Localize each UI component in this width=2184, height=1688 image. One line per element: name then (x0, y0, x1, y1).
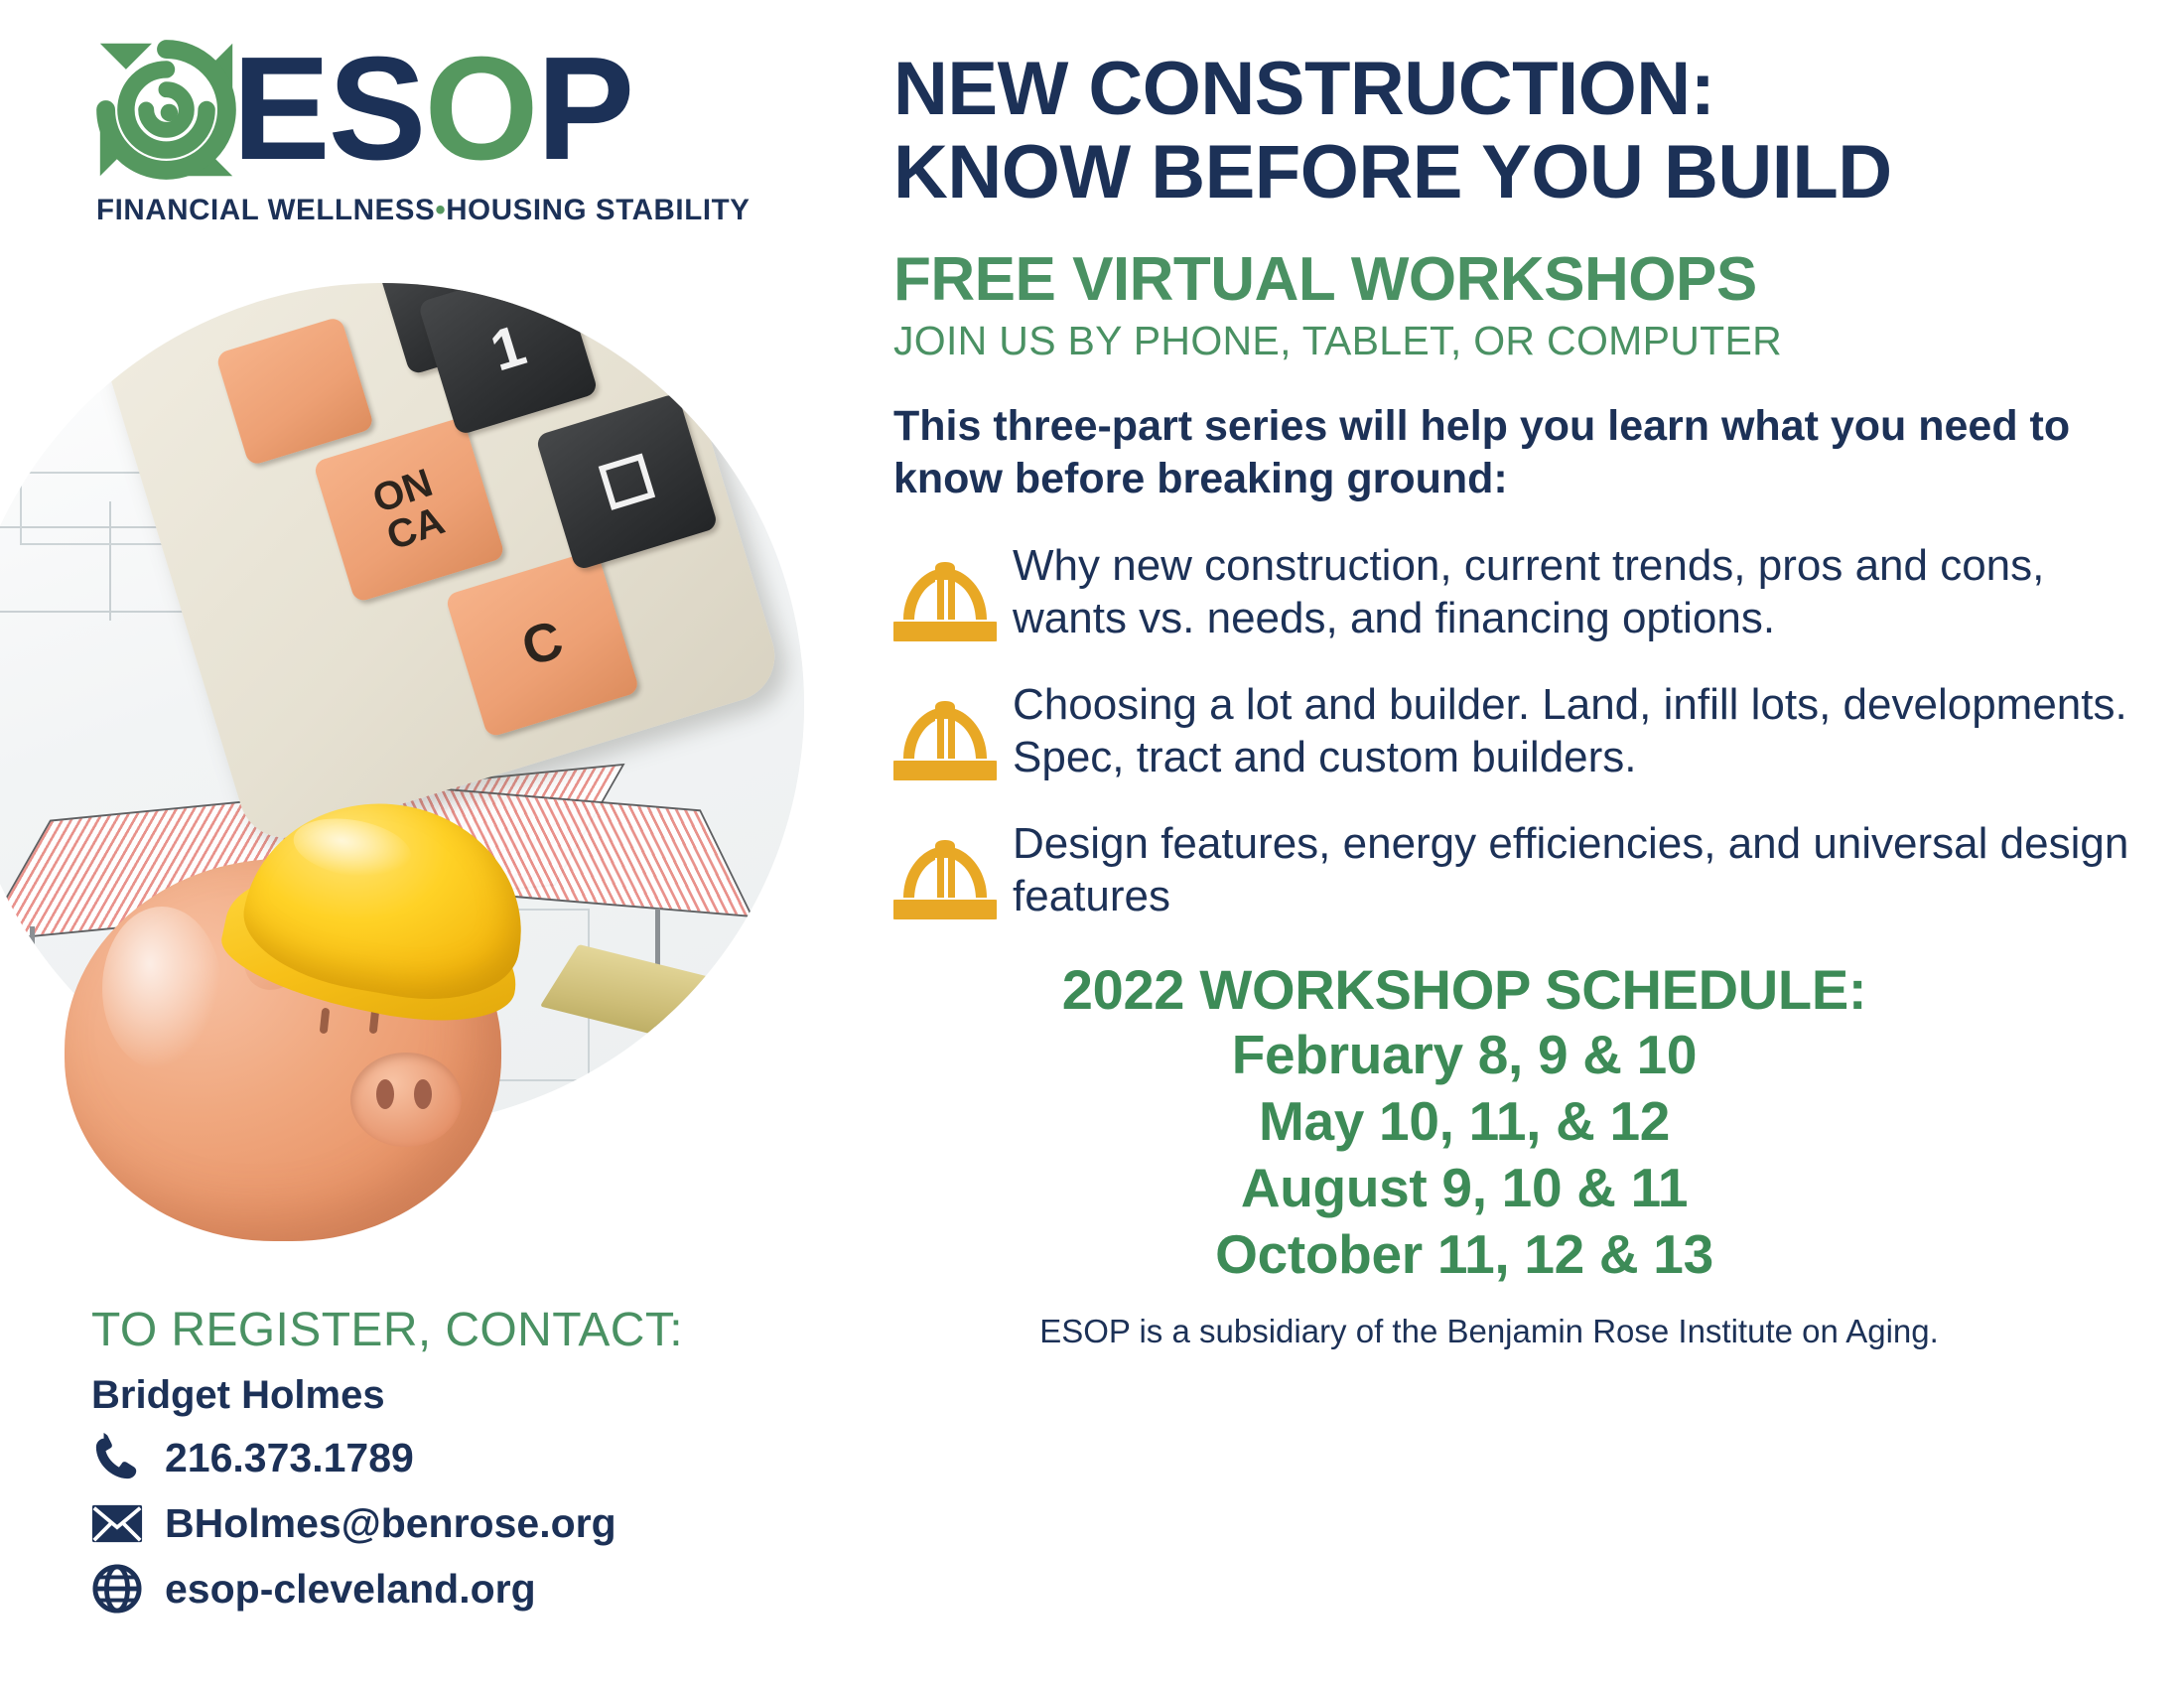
schedule-date: May 10, 11, & 12 (893, 1088, 2035, 1155)
contact-row-email[interactable]: BHolmes@benrose.org (91, 1497, 806, 1549)
piggy-nostril (414, 1079, 432, 1109)
list-item-label: Why new construction, current trends, pr… (1013, 540, 2164, 645)
calculator-key (215, 316, 375, 466)
logo-tagline: FINANCIAL WELLNESS•HOUSING STABILITY (96, 194, 730, 227)
list-item: Why new construction, current trends, pr… (893, 540, 2164, 645)
page-title: NEW CONSTRUCTION: KNOW BEFORE YOU BUILD (893, 48, 2164, 213)
schedule-date: October 11, 12 & 13 (893, 1221, 2035, 1288)
contact-row-phone[interactable]: 216.373.1789 (91, 1432, 806, 1483)
tagline-part2: HOUSING STABILITY (446, 194, 750, 226)
contact-website: esop-cleveland.org (165, 1566, 536, 1613)
piggy-snout (350, 1053, 462, 1147)
contact-block: TO REGISTER, CONTACT: Bridget Holmes 216… (91, 1303, 806, 1615)
phone-icon (91, 1432, 143, 1483)
logo-wordmark: ESOP (232, 36, 632, 183)
contact-title: TO REGISTER, CONTACT: (91, 1303, 806, 1357)
tagline-dot: • (435, 194, 446, 226)
bullet-list: Why new construction, current trends, pr… (893, 540, 2164, 923)
hard-hat-icon (893, 554, 997, 645)
main-content-column: NEW CONSTRUCTION: KNOW BEFORE YOU BUILD … (893, 48, 2164, 1350)
list-item-label: Choosing a lot and builder. Land, infill… (1013, 679, 2164, 784)
piggy-highlight (102, 907, 221, 1070)
contact-row-website[interactable]: esop-cleveland.org (91, 1563, 806, 1615)
piggy-leg (96, 1192, 152, 1276)
calculator-key-c: C (445, 549, 640, 738)
list-item: Choosing a lot and builder. Land, infill… (893, 679, 2164, 784)
headline-line-1: NEW CONSTRUCTION: (893, 48, 2164, 131)
schedule-date: February 8, 9 & 10 (893, 1022, 2035, 1088)
intro-paragraph: This three-part series will help you lea… (893, 400, 2075, 504)
blueprint-column (30, 926, 35, 1075)
piggy-bank-with-hard-hat (55, 859, 551, 1276)
subheading: FREE VIRTUAL WORKSHOPS (893, 247, 2164, 312)
yellow-hard-hat (223, 804, 551, 1038)
calculator-key-on-ca: ON CA (313, 417, 505, 604)
hard-hat-icon (893, 693, 997, 784)
subheading-detail: JOIN US BY PHONE, TABLET, OR COMPUTER (893, 318, 2164, 364)
calculator-key-square (535, 392, 719, 571)
globe-icon (91, 1563, 143, 1615)
workshop-schedule: 2022 WORKSHOP SCHEDULE: February 8, 9 & … (893, 957, 2035, 1288)
hard-hat-icon (893, 832, 997, 923)
tagline-part1: FINANCIAL WELLNESS (96, 194, 435, 226)
contact-person-name: Bridget Holmes (91, 1373, 806, 1418)
schedule-date: August 9, 10 & 11 (893, 1155, 2035, 1221)
piggy-nostril (376, 1079, 394, 1109)
contact-phone: 216.373.1789 (165, 1435, 414, 1481)
schedule-title: 2022 WORKSHOP SCHEDULE: (893, 957, 2035, 1022)
list-item-label: Design features, energy efficiencies, an… (1013, 818, 2164, 923)
headline-line-2: KNOW BEFORE YOU BUILD (893, 131, 2164, 214)
logo-mark-row: ESOP (94, 35, 730, 184)
spiral-swirl-icon (94, 38, 238, 182)
calculator-key-1: 1 (418, 283, 599, 436)
esop-logo: ESOP FINANCIAL WELLNESS•HOUSING STABILIT… (94, 35, 730, 228)
envelope-icon (91, 1497, 143, 1549)
contact-email: BHolmes@benrose.org (165, 1500, 616, 1547)
footnote: ESOP is a subsidiary of the Benjamin Ros… (893, 1313, 2085, 1350)
list-item: Design features, energy efficiencies, an… (893, 818, 2164, 923)
